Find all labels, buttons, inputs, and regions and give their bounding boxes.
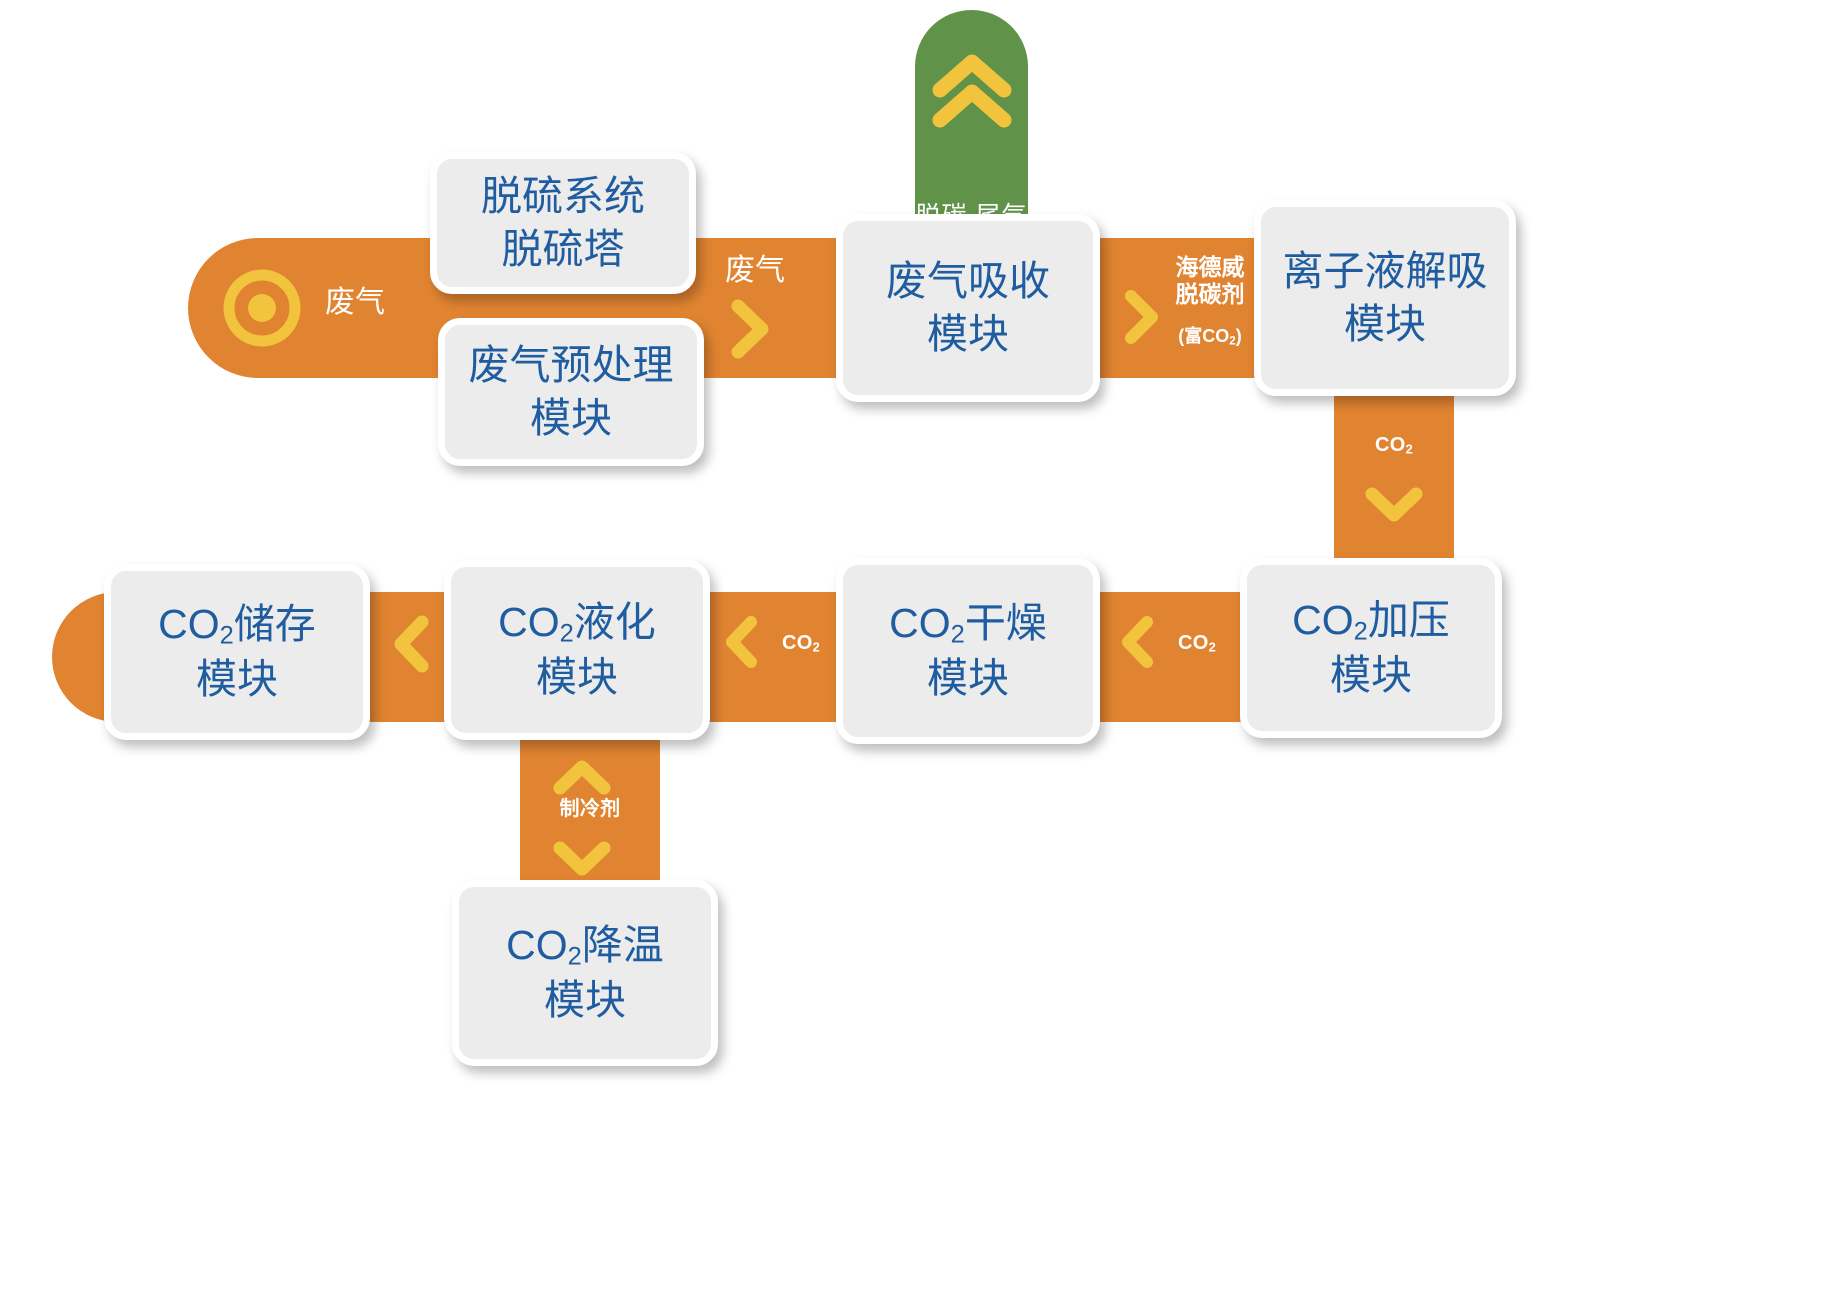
chevron-down-icon <box>1364 482 1424 526</box>
node-dry[interactable]: CO2干燥模块 <box>836 558 1100 744</box>
chevron-left-icon <box>1118 614 1158 670</box>
node-dry-label: CO2干燥模块 <box>883 597 1053 705</box>
process-flow-diagram: 脱碳 尾气 废气 脱硫系统 脱硫塔 废气预处理 模块 废气 废气吸收 模块 海德… <box>0 0 1834 1308</box>
node-liquefy[interactable]: CO2液化模块 <box>444 560 710 740</box>
chevron-left-icon <box>390 614 434 674</box>
node-desorb-label: 离子液解吸 模块 <box>1277 245 1494 352</box>
node-absorb[interactable]: 废气吸收 模块 <box>836 214 1100 402</box>
target-icon <box>222 268 302 348</box>
node-absorb-label: 废气吸收 模块 <box>880 255 1056 362</box>
chevron-down-icon <box>552 836 612 880</box>
node-pretreat[interactable]: 废气预处理 模块 <box>438 318 704 466</box>
node-store-label: CO2储存模块 <box>152 598 322 706</box>
chevron-right-icon <box>726 298 772 360</box>
node-desorb[interactable]: 离子液解吸 模块 <box>1254 200 1516 396</box>
node-desulfur-label: 脱硫系统 脱硫塔 <box>475 170 651 277</box>
node-desulfur[interactable]: 脱硫系统 脱硫塔 <box>430 152 696 294</box>
node-cooling-label: CO2降温模块 <box>500 919 670 1027</box>
chevron-left-icon <box>722 614 762 670</box>
node-pressurize-label: CO2加压模块 <box>1286 594 1456 702</box>
node-cooling[interactable]: CO2降温模块 <box>452 880 718 1066</box>
node-store[interactable]: CO2储存模块 <box>104 564 370 740</box>
chevron-up-icon <box>552 756 612 800</box>
double-chevron-up-icon <box>930 48 1014 128</box>
node-liquefy-label: CO2液化模块 <box>492 596 662 704</box>
node-pretreat-label: 废气预处理 模块 <box>463 339 680 446</box>
node-pressurize[interactable]: CO2加压模块 <box>1240 558 1502 738</box>
chevron-right-icon <box>1120 288 1162 346</box>
decarb-tail-shape: 脱碳 尾气 <box>915 10 1028 245</box>
